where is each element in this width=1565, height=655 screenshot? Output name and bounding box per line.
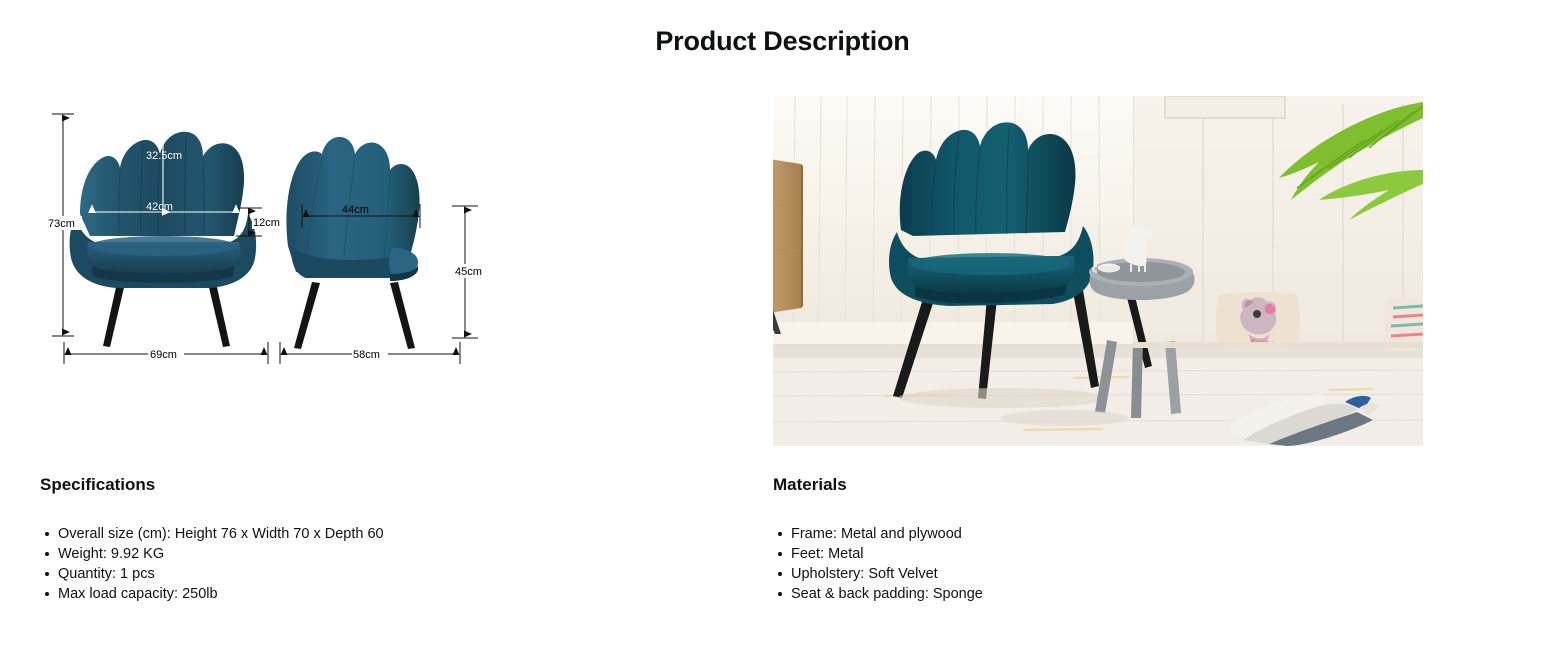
- deer-print-cushion: Sunny: [1216, 292, 1300, 350]
- wooden-cabinet: [773, 158, 803, 334]
- list-item: Max load capacity: 250lb: [40, 584, 384, 604]
- left-column: 73cm 32.5cm 42cm 12cm 69cm 44cm 45cm 58c…: [40, 96, 740, 446]
- list-item: Seat & back padding: Sponge: [773, 584, 983, 604]
- dimension-label-overall-width: 69cm: [150, 349, 177, 361]
- chair-dimension-diagram: 73cm 32.5cm 42cm 12cm 69cm 44cm 45cm 58c…: [40, 96, 700, 446]
- dimension-label-seat-width: 42cm: [146, 201, 173, 213]
- list-item: Frame: Metal and plywood: [773, 524, 983, 544]
- dimension-label-back-height: 32.5cm: [146, 150, 182, 162]
- list-item: Feet: Metal: [773, 544, 983, 564]
- materials-heading: Materials: [773, 475, 847, 495]
- page-title: Product Description: [0, 26, 1565, 57]
- dimension-drawing: 73cm 32.5cm 42cm 12cm 69cm 44cm 45cm 58c…: [40, 96, 700, 446]
- list-item: Overall size (cm): Height 76 x Width 70 …: [40, 524, 384, 544]
- dimension-label-seat-height: 45cm: [455, 266, 482, 278]
- side-view-chair: [286, 137, 419, 349]
- materials-list: Frame: Metal and plywood Feet: Metal Uph…: [773, 524, 983, 604]
- list-item: Upholstery: Soft Velvet: [773, 564, 983, 584]
- dimension-label-seat-thickness: 12cm: [253, 217, 280, 229]
- lifestyle-room-photo: Sunny: [773, 96, 1423, 446]
- dimension-label-total-height: 73cm: [48, 218, 75, 230]
- specifications-heading: Specifications: [40, 475, 155, 495]
- list-item: Quantity: 1 pcs: [40, 564, 384, 584]
- right-column: Sunny: [773, 96, 1473, 446]
- dimension-label-overall-depth: 58cm: [353, 349, 380, 361]
- specifications-list: Overall size (cm): Height 76 x Width 70 …: [40, 524, 384, 604]
- dimension-label-seat-depth: 44cm: [342, 204, 369, 216]
- list-item: Weight: 9.92 KG: [40, 544, 384, 564]
- room-scene: Sunny: [773, 96, 1423, 446]
